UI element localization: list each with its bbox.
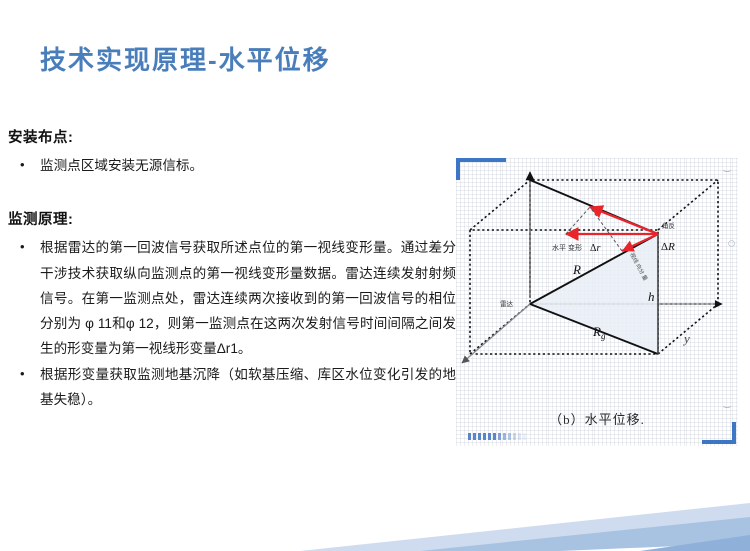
spacer [8,178,456,208]
section-heading-principle: 监测原理: [8,208,456,229]
content-text-column: 安装布点: 监测点区域安装无源信标。 监测原理: 根据雷达的第一回波信号获取所述… [8,126,456,412]
section-heading-installation: 安装布点: [8,126,456,147]
bullet-list-installation: 监测点区域安装无源信标。 [8,153,456,178]
page-title: 技术实现原理-水平位移 [40,40,331,77]
figure-horizontal-displacement[interactable]: ⌣ ○ ⌣ [456,158,738,446]
slide-canvas: 技术实现原理-水平位移 安装布点: 监测点区域安装无源信标。 监测原理: 根据雷… [0,0,750,551]
label-corner-reflector: 角反 [662,221,676,230]
label-slant-deformation: ΔR [661,241,675,253]
list-item: 根据形变量获取监测地基沉降（如软基压缩、库区水位变化引发的地基失稳）。 [8,362,456,413]
label-axis-y: y [682,331,690,346]
figure-caption: （b）水平位移. [456,409,738,428]
label-slant-range: R [572,262,581,277]
figure-diagram-svg: R Rg h y 雷达 角反 水平 变形 Δr ΔR 视线 向分 量 [456,158,738,446]
list-item: 监测点区域安装无源信标。 [8,153,456,178]
list-item: 根据雷达的第一回波信号获取所述点位的第一视线变形量。通过差分干涉技术获取纵向监测… [8,235,456,361]
label-radar: 雷达 [500,299,514,308]
label-horizontal-deformation: 水平 变形 [552,243,582,252]
decorative-bands [0,491,750,551]
label-horizontal-deformation-symbol: Δr [590,243,600,254]
label-height: h [648,289,655,304]
bullet-list-principle: 根据雷达的第一回波信号获取所述点位的第一视线变形量。通过差分干涉技术获取纵向监测… [8,235,456,412]
